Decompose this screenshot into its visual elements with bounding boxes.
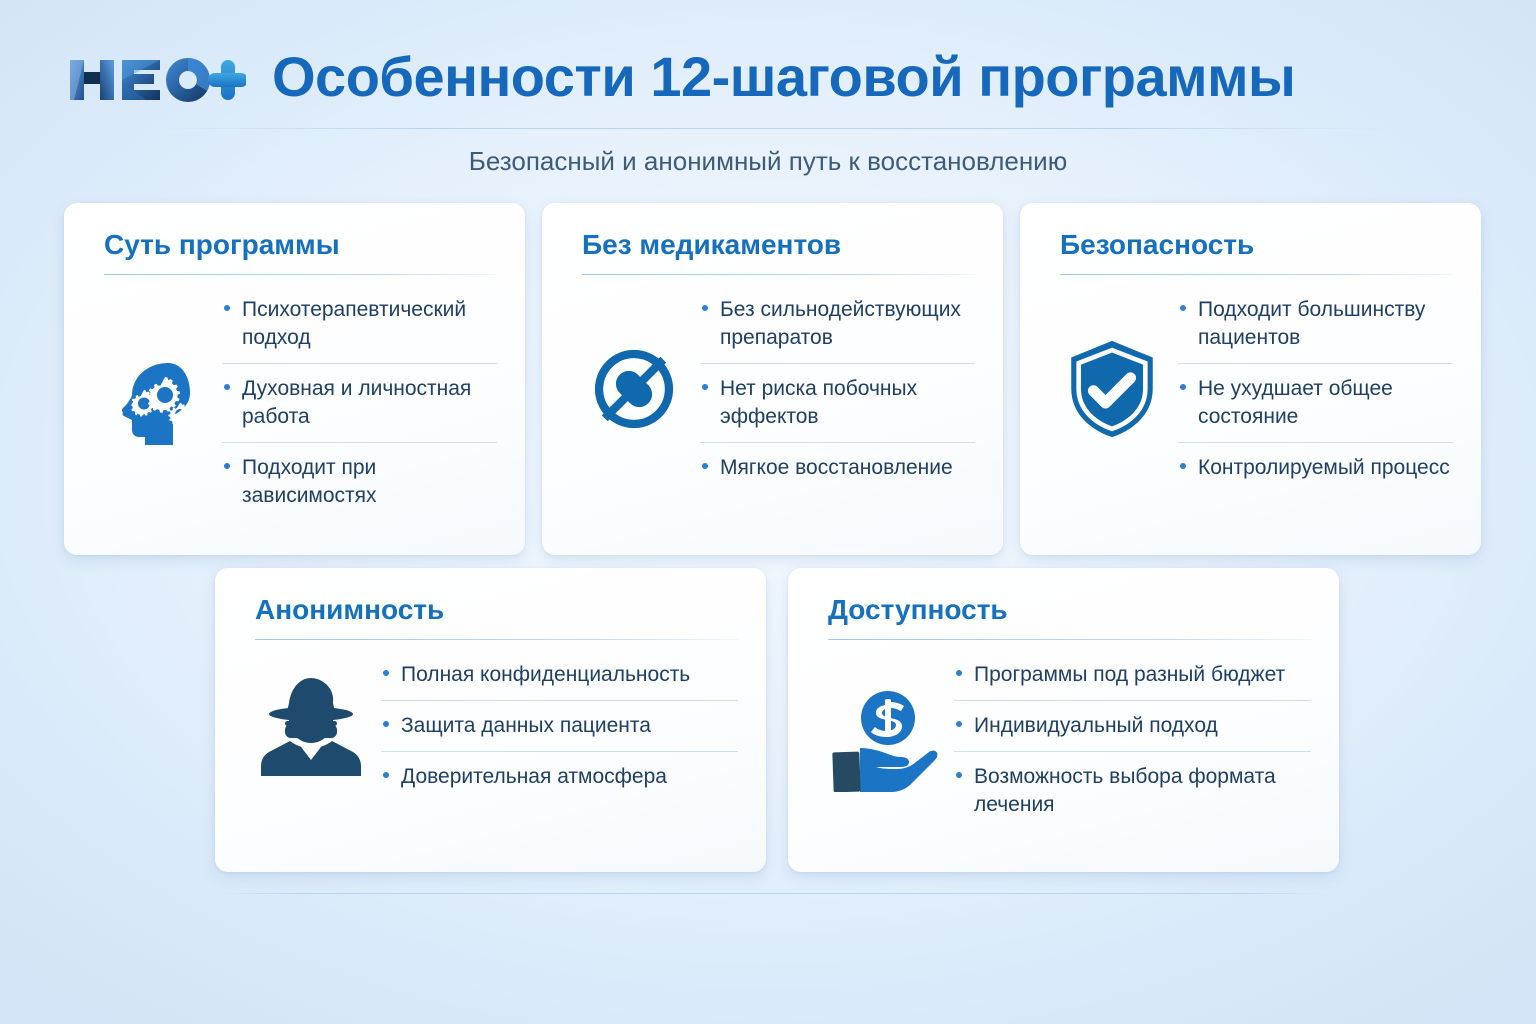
page-title: Особенности 12-шаговой программы <box>272 44 1295 109</box>
card-title: Доступность <box>828 594 1311 626</box>
list-item: Возможность выбора формата лечения <box>954 752 1311 830</box>
list-item: Не ухудшает общее состояние <box>1178 364 1453 443</box>
cards-row-bottom: Анонимность <box>215 568 1339 872</box>
card-bez-medikamentov[interactable]: Без медикаментов Без сильнодействующих п… <box>542 203 1003 555</box>
card-bezopasnost[interactable]: Безопасность Подходит большинству пациен… <box>1020 203 1481 555</box>
bullet-list: Программы под разный бюджет Индивидуальн… <box>954 650 1311 830</box>
hand-coin-icon <box>830 688 938 792</box>
list-item: Защита данных пациента <box>381 701 738 752</box>
card-title: Анонимность <box>255 594 738 626</box>
icon-slot <box>1060 339 1164 439</box>
header: Особенности 12-шаговой программы <box>0 0 1536 132</box>
head-gears-icon <box>108 355 204 451</box>
cards-row-top: Суть программы Психотерапевтич <box>64 203 1481 555</box>
list-item: Духовная и личностная работа <box>222 364 497 443</box>
card-title-divider <box>582 274 975 275</box>
bullet-list: Без сильнодействующих препаратов Нет рис… <box>700 285 975 493</box>
page-subtitle: Безопасный и анонимный путь к восстановл… <box>0 146 1536 177</box>
shield-check-icon <box>1065 339 1159 439</box>
header-divider <box>150 128 1390 129</box>
list-item: Программы под разный бюджет <box>954 650 1311 701</box>
footer-divider <box>215 893 1325 894</box>
list-item: Контролируемый процесс <box>1178 443 1453 493</box>
neo-plus-logo-icon <box>66 52 246 108</box>
list-item: Доверительная атмосфера <box>381 752 738 802</box>
incognito-icon <box>259 670 363 782</box>
list-item: Нет риска побочных эффектов <box>700 364 975 443</box>
card-body: Программы под разный бюджет Индивидуальн… <box>828 650 1311 830</box>
card-sut-programmy[interactable]: Суть программы Психотерапевтич <box>64 203 525 555</box>
card-body: Без сильнодействующих препаратов Нет рис… <box>582 285 975 493</box>
list-item: Психотерапевтический подход <box>222 285 497 364</box>
bullet-list: Психотерапевтический подход Духовная и л… <box>222 285 497 521</box>
card-title-divider <box>828 639 1311 640</box>
list-item: Подходит при зависимостях <box>222 443 497 521</box>
card-title-divider <box>1060 274 1453 275</box>
card-title-divider <box>104 274 497 275</box>
card-title: Суть программы <box>104 229 497 261</box>
card-title: Безопасность <box>1060 229 1453 261</box>
card-anonimnost[interactable]: Анонимность <box>215 568 766 872</box>
list-item: Подходит большинству пациентов <box>1178 285 1453 364</box>
list-item: Индивидуальный подход <box>954 701 1311 752</box>
card-dostupnost[interactable]: Доступность Программы под разный <box>788 568 1339 872</box>
list-item: Полная конфиденциальность <box>381 650 738 701</box>
bullet-list: Подходит большинству пациентов Не ухудша… <box>1178 285 1453 493</box>
icon-slot <box>255 670 367 782</box>
icon-slot <box>582 343 686 435</box>
card-title-divider <box>255 639 738 640</box>
card-body: Подходит большинству пациентов Не ухудша… <box>1060 285 1453 493</box>
icon-slot <box>104 355 208 451</box>
list-item: Без сильнодействующих препаратов <box>700 285 975 364</box>
card-body: Психотерапевтический подход Духовная и л… <box>104 285 497 521</box>
bullet-list: Полная конфиденциальность Защита данных … <box>381 650 738 802</box>
list-item: Мягкое восстановление <box>700 443 975 493</box>
card-body: Полная конфиденциальность Защита данных … <box>255 650 738 802</box>
infographic-poster: Особенности 12-шаговой программы Безопас… <box>0 0 1536 1024</box>
icon-slot <box>828 688 940 792</box>
no-pills-icon <box>588 343 680 435</box>
card-title: Без медикаментов <box>582 229 975 261</box>
